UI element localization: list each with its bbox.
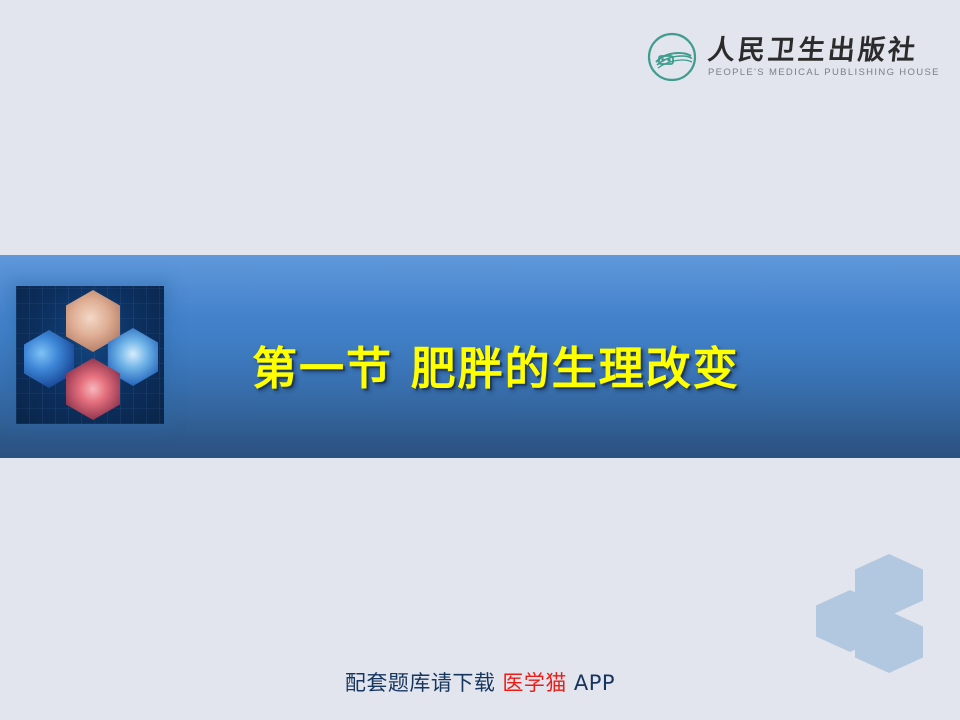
publisher-name-block: 人民卫生出版社 PEOPLE'S MEDICAL PUBLISHING HOUS… <box>708 35 940 78</box>
footer-brand-name: 医学猫 <box>502 671 567 695</box>
footer-lead-text: 配套题库请下载 <box>345 671 496 695</box>
publisher-name-english: PEOPLE'S MEDICAL PUBLISHING HOUSE <box>708 68 940 78</box>
medical-hexagon-collage-image <box>16 286 164 424</box>
publisher-name-chinese: 人民卫生出版社 <box>707 37 942 64</box>
footer-app-label: APP <box>574 671 615 695</box>
decorative-hexagon-cluster <box>800 548 940 673</box>
slide-title: 第一节 肥胖的生理改变 <box>252 332 892 397</box>
publisher-emblem-icon <box>646 31 698 83</box>
presentation-slide: 人民卫生出版社 PEOPLE'S MEDICAL PUBLISHING HOUS… <box>0 0 960 720</box>
publisher-logo: 人民卫生出版社 PEOPLE'S MEDICAL PUBLISHING HOUS… <box>646 28 896 86</box>
footer-promo: 配套题库请下载医学猫APP <box>0 667 960 697</box>
